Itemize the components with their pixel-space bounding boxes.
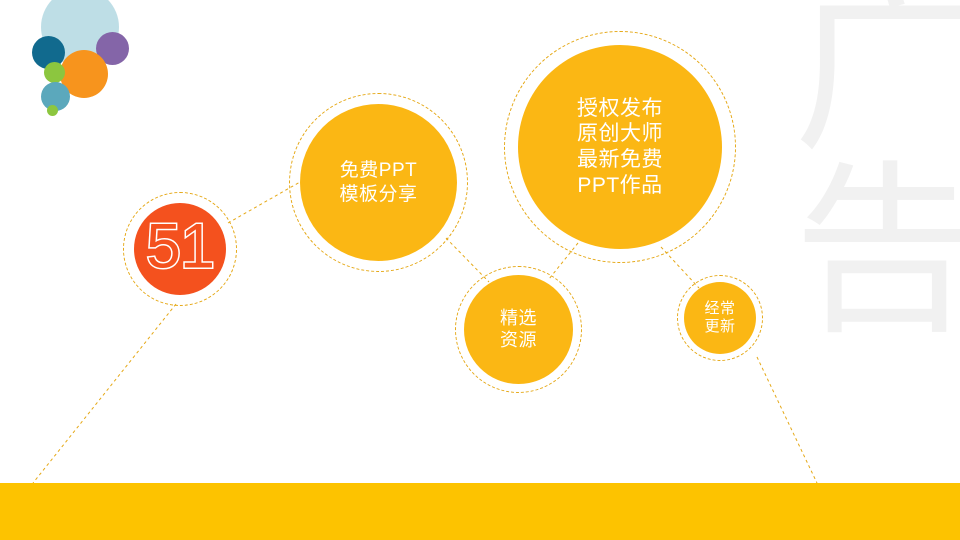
node-free-ppt[interactable]: 免费PPT 模板分享 [289,93,468,272]
node-frequent-updates[interactable]: 经常 更新 [677,275,763,361]
node-selected-resources-fill: 精选 资源 [464,275,573,384]
node-51ppt-logo[interactable]: 51 [123,192,237,306]
node-selected-resources[interactable]: 精选 资源 [455,266,582,393]
connector-free-to-selected [446,238,489,282]
node-authorized-release[interactable]: 授权发布 原创大师 最新免费 PPT作品 [504,31,736,263]
node-authorized-release-fill: 授权发布 原创大师 最新免费 PPT作品 [518,45,722,249]
connector-logo-to-bar [33,304,176,483]
logo-number-text: 51 [146,216,214,279]
connector-update-to-bar [757,357,817,483]
node-selected-resources-label: 精选 资源 [500,308,537,352]
node-frequent-updates-label: 经常 更新 [704,300,735,337]
slide-canvas: 广告 51 免费PPT 模板分享 授权发布 原创大师 最新免费 PPT作品 精选… [0,0,960,540]
bottom-accent-bar [0,483,960,540]
node-free-ppt-label: 免费PPT 模板分享 [339,159,417,205]
node-frequent-updates-fill: 经常 更新 [684,282,756,354]
logo-circle-fill: 51 [134,203,226,295]
node-authorized-release-label: 授权发布 原创大师 最新免费 PPT作品 [577,96,663,198]
node-free-ppt-fill: 免费PPT 模板分享 [300,104,457,261]
